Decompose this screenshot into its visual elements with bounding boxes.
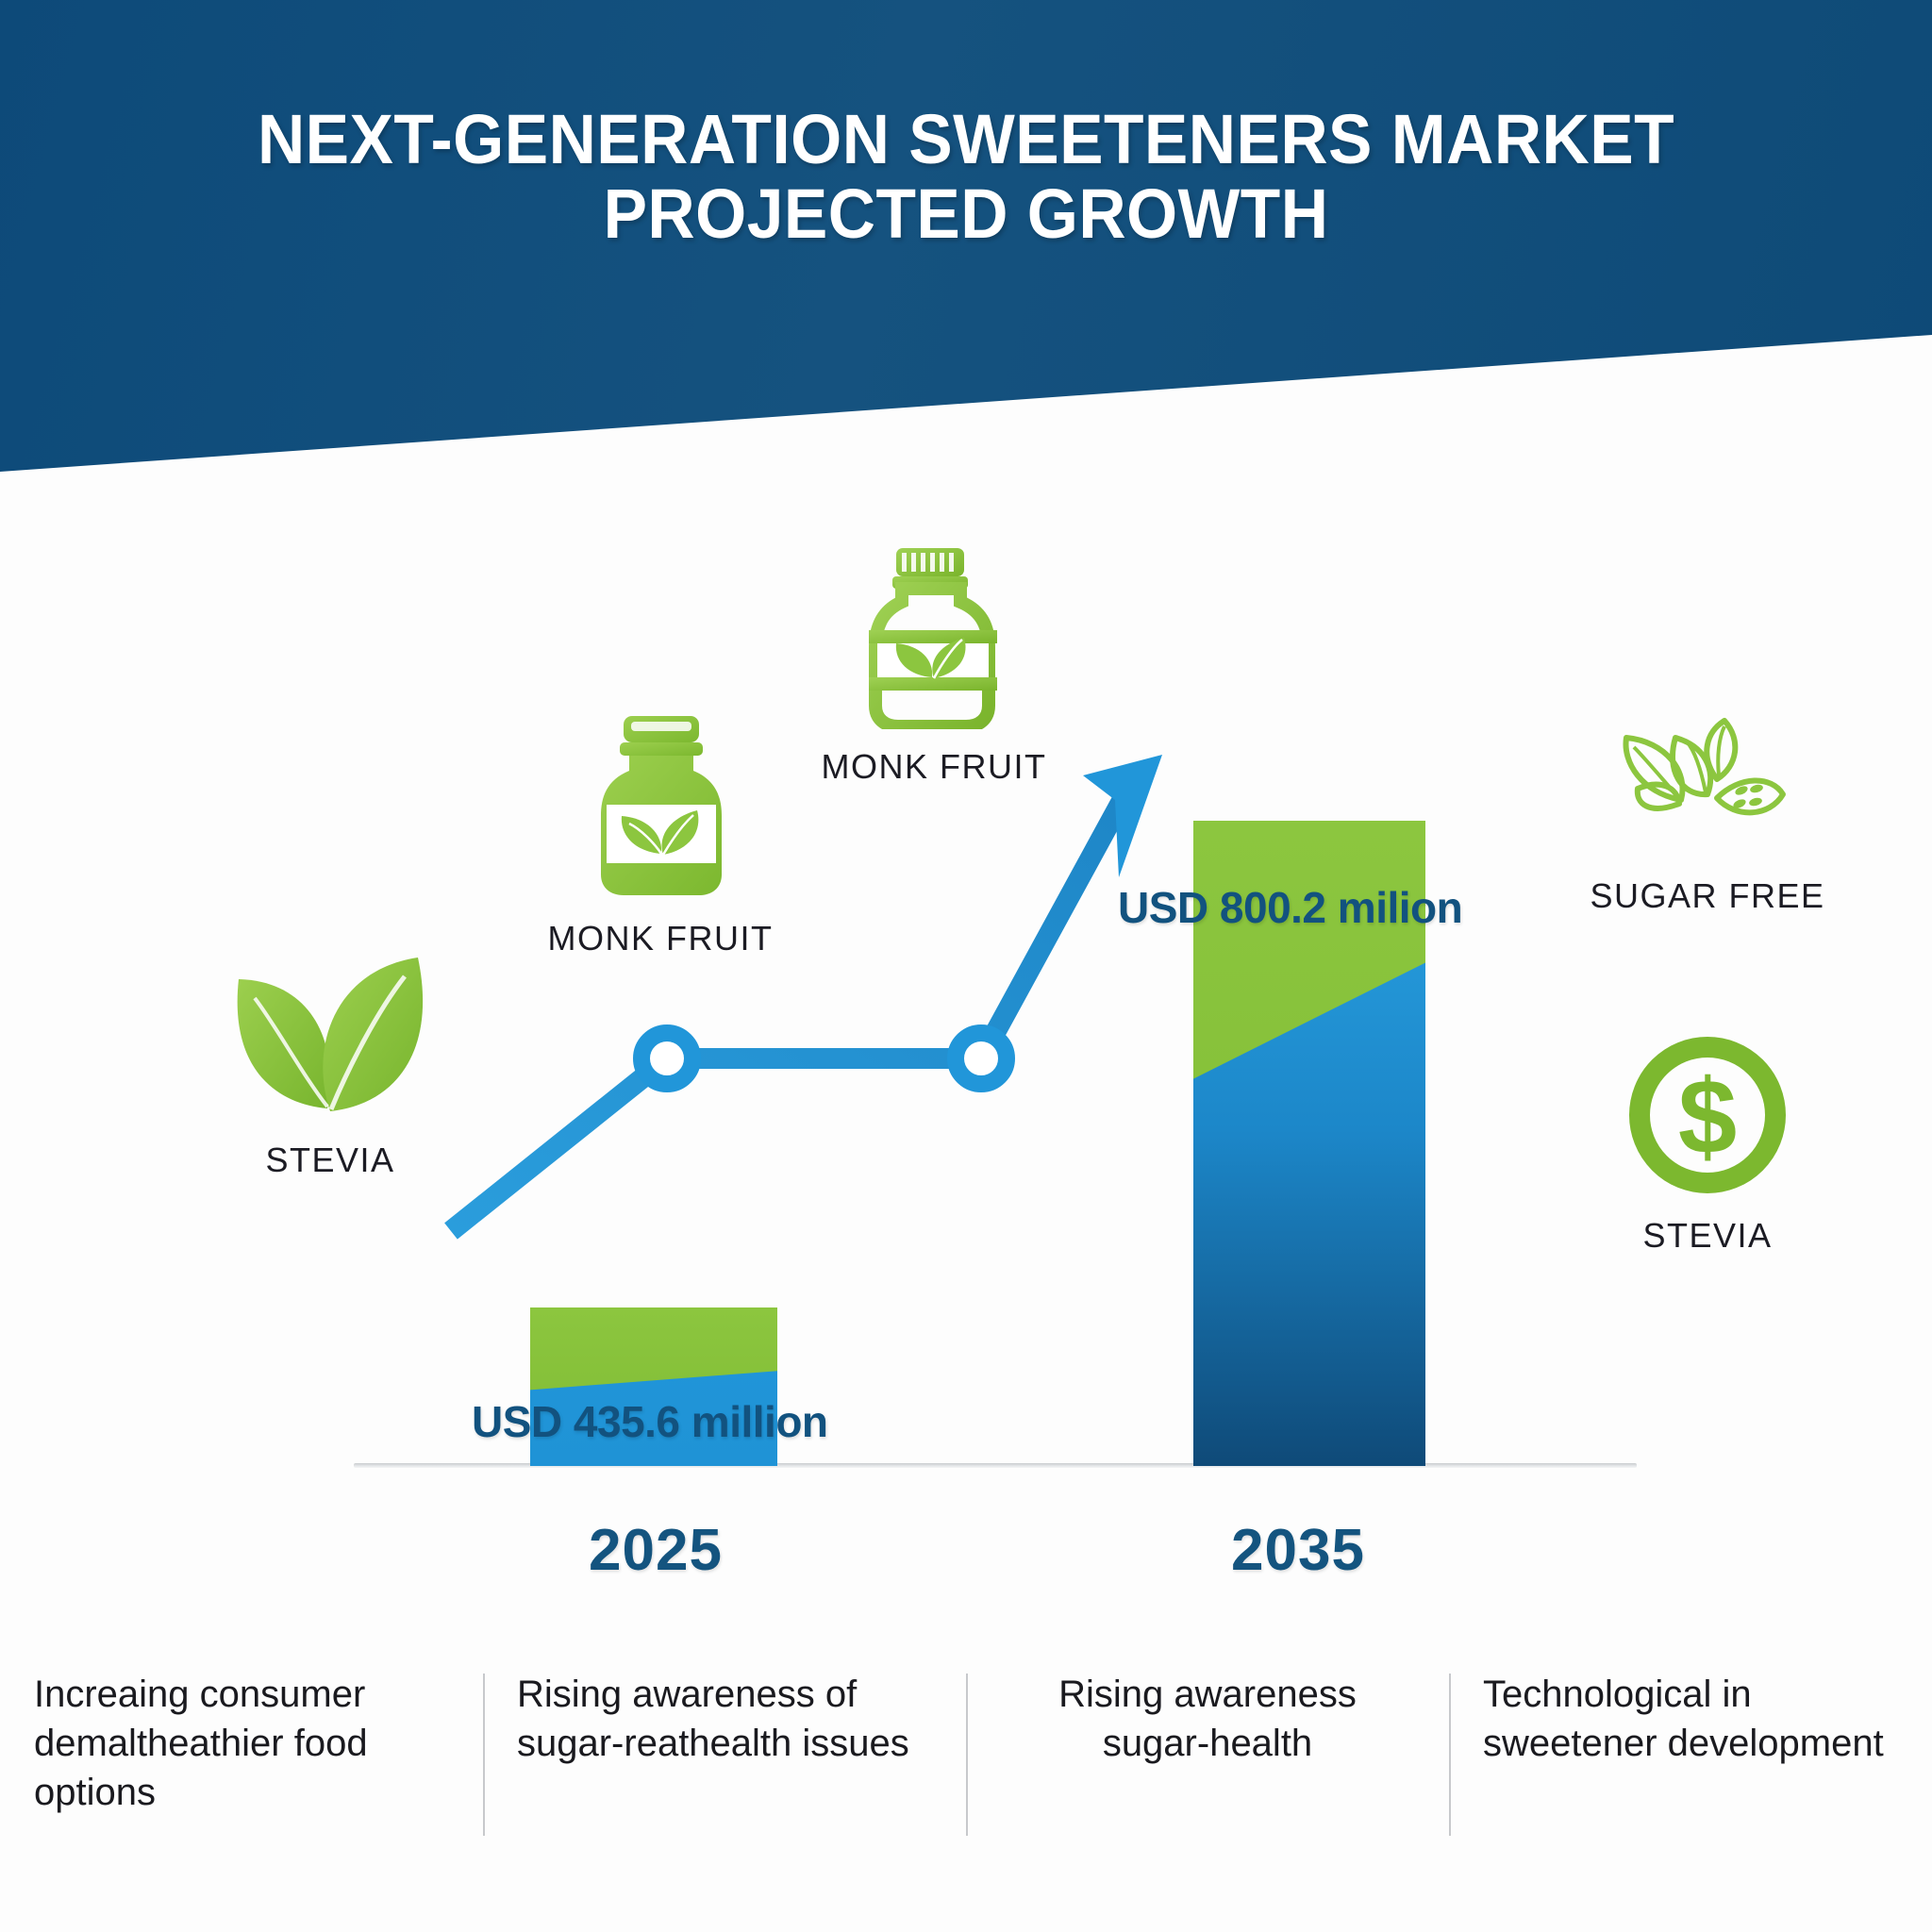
svg-text:$: $	[1677, 1058, 1736, 1175]
leaf-cluster-icon	[1613, 717, 1802, 858]
page-title: NEXT-GENERATION SWEETENERS MARKET PROJEC…	[58, 102, 1874, 251]
dollar-circle-icon: $	[1625, 1033, 1790, 1198]
driver-item-4: Technological in sweetener development	[1449, 1670, 1932, 1768]
two-leaf-icon	[222, 953, 439, 1123]
driver-text-3: Rising awareness sugar-health	[1058, 1674, 1357, 1764]
driver-item-3: Rising awareness sugar-health	[966, 1670, 1449, 1768]
bottle-icon	[578, 712, 743, 901]
axis-label-2035: 2035	[1157, 1517, 1440, 1584]
icon-caption-sugar-free: SUGAR FREE	[1557, 876, 1858, 916]
icon-block-sugar-free: SUGAR FREE	[1557, 717, 1858, 916]
bar-2035-value-label: USD 800.2 milion	[1118, 882, 1462, 933]
icon-block-monk-fruit-upper: MONK FRUIT	[783, 545, 1085, 787]
infographic-canvas: NEXT-GENERATION SWEETENERS MARKET PROJEC…	[0, 0, 1932, 1932]
icon-caption-stevia-leaf: STEVIA	[151, 1141, 509, 1180]
icon-caption-monk-fruit-lower: MONK FRUIT	[509, 919, 811, 958]
bottle-icon	[857, 545, 1012, 729]
driver-item-1: Increaing consumer demaltheathier food o…	[0, 1670, 483, 1817]
icon-block-monk-fruit-lower: MONK FRUIT	[509, 712, 811, 958]
icon-caption-monk-fruit-upper: MONK FRUIT	[783, 747, 1085, 787]
icon-block-stevia-leaf: STEVIA	[151, 953, 509, 1180]
driver-text-1: Increaing consumer demaltheathier food o…	[34, 1674, 368, 1813]
driver-text-4: Technological in sweetener development	[1483, 1674, 1884, 1764]
driver-item-2: Rising awareness of sugar-reathealth iss…	[483, 1670, 966, 1768]
bar-2025-value-label: USD 435.6 million	[472, 1396, 828, 1447]
header-banner: NEXT-GENERATION SWEETENERS MARKET PROJEC…	[0, 0, 1932, 491]
driver-text-2: Rising awareness of sugar-reathealth iss…	[517, 1674, 909, 1764]
axis-label-2025: 2025	[514, 1517, 797, 1584]
icon-block-stevia-dollar: $ STEVIA	[1585, 1033, 1830, 1256]
icon-caption-stevia-dollar: STEVIA	[1585, 1216, 1830, 1256]
market-drivers-row: Increaing consumer demaltheathier food o…	[0, 1670, 1932, 1896]
